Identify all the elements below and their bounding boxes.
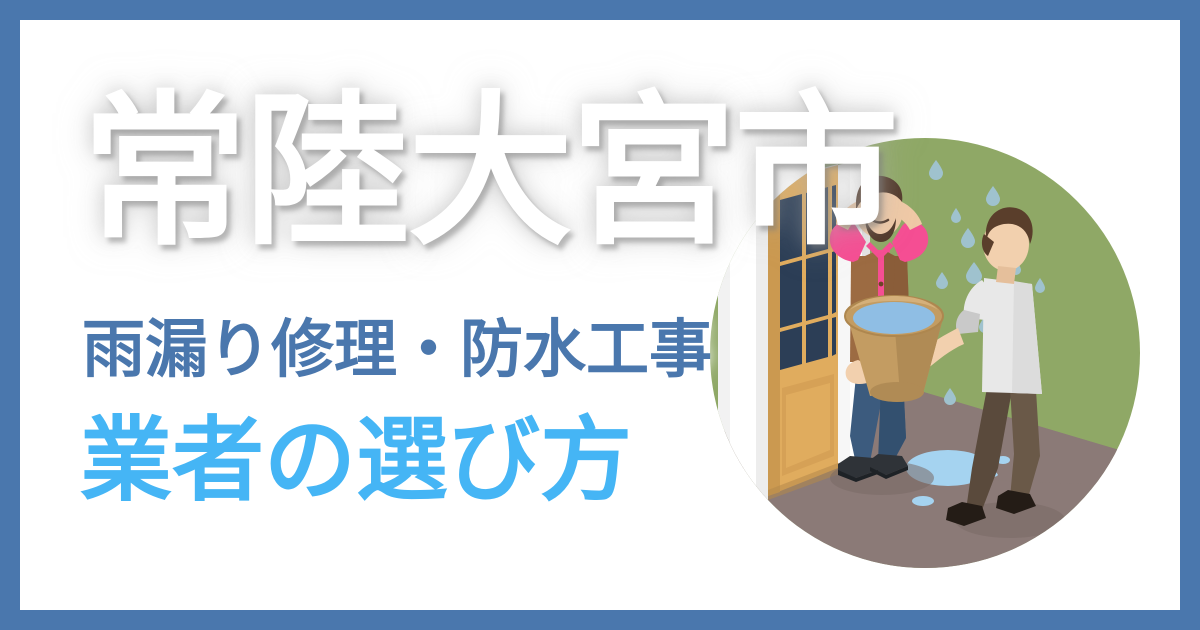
banner-inner: 常陸大宮市 雨漏り修理・防水工事 業者の選び方 <box>20 20 1180 610</box>
page-title-city: 常陸大宮市 <box>82 90 897 255</box>
page-subtitle-service: 雨漏り修理・防水工事 <box>82 316 712 384</box>
banner-frame: 常陸大宮市 雨漏り修理・防水工事 業者の選び方 <box>0 0 1200 630</box>
page-title-accent: 業者の選び方 <box>80 412 632 511</box>
